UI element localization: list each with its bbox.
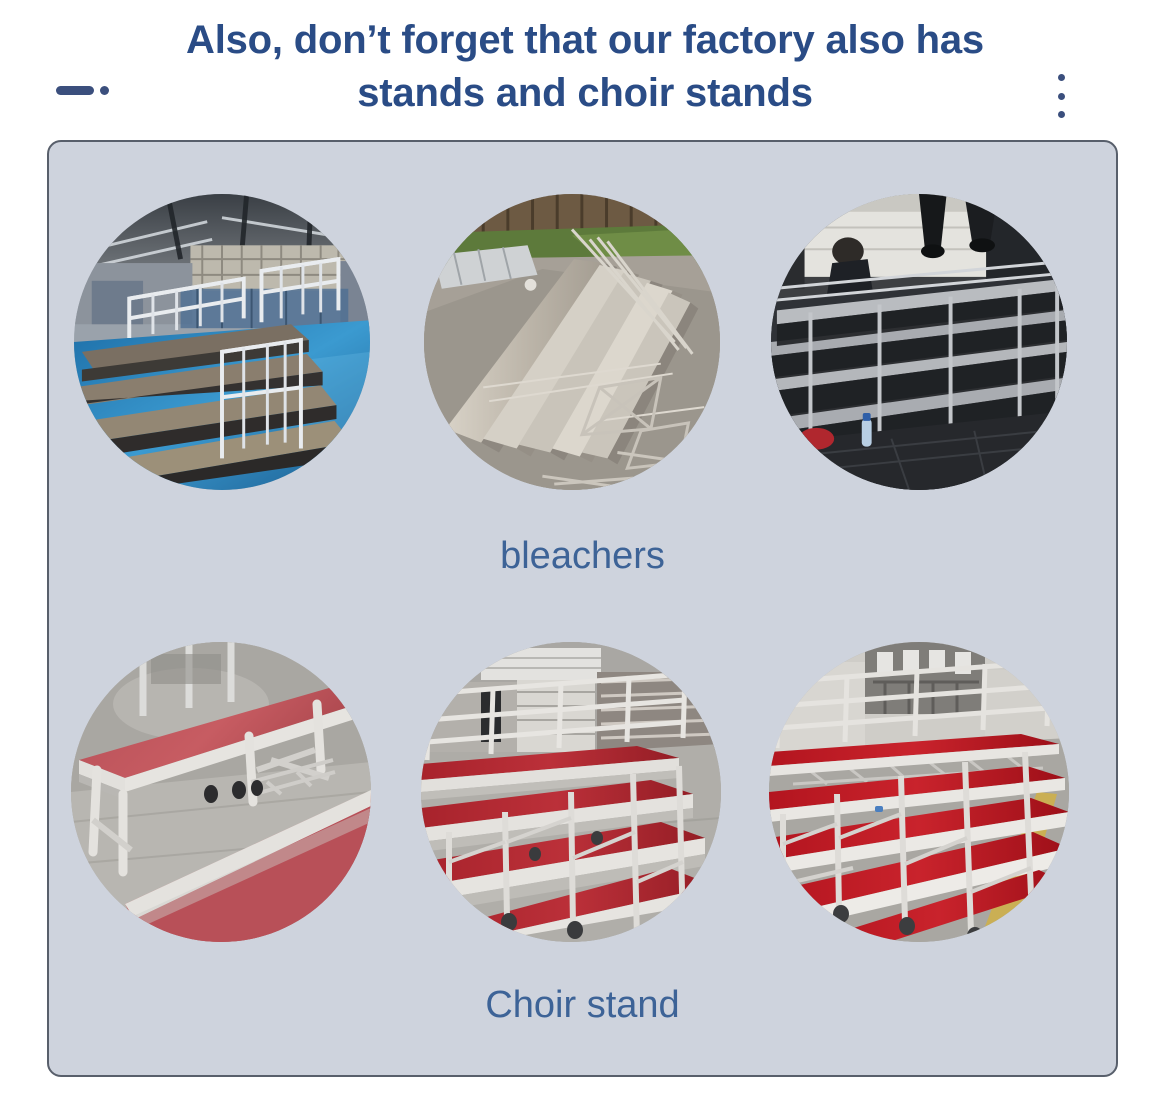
kebab-dot-2 bbox=[1058, 93, 1065, 100]
kebab-dot-1 bbox=[1058, 74, 1065, 81]
bleachers-caption: bleachers bbox=[49, 535, 1116, 578]
product-showcase-panel: bleachers bbox=[47, 140, 1118, 1077]
choir-stand-four-tier-red-graphic bbox=[769, 642, 1069, 942]
choir-stand-three-tier-red-image[interactable] bbox=[421, 642, 721, 942]
bleachers-image-row bbox=[49, 194, 1116, 524]
page-header: Also, don’t forget that our factory also… bbox=[0, 0, 1170, 138]
page-title: Also, don’t forget that our factory also… bbox=[120, 14, 1050, 120]
bleachers-outdoor-stacked-panels-image[interactable] bbox=[424, 194, 720, 490]
kebab-menu-icon[interactable] bbox=[1056, 74, 1066, 118]
choir-stand-two-tier-red-graphic bbox=[71, 642, 371, 942]
choir-stand-caption: Choir stand bbox=[49, 984, 1116, 1027]
kebab-dot-3 bbox=[1058, 111, 1065, 118]
bleachers-factory-assembly-graphic bbox=[771, 194, 1067, 490]
choir-stand-image-row bbox=[49, 642, 1116, 972]
minus-dash-icon[interactable] bbox=[56, 82, 112, 98]
bleachers-outdoor-stacked-panels-graphic bbox=[424, 194, 720, 490]
bleachers-factory-assembly-image[interactable] bbox=[771, 194, 1067, 490]
minus-dash-bar bbox=[56, 86, 94, 95]
choir-stand-four-tier-red-image[interactable] bbox=[769, 642, 1069, 942]
choir-stand-two-tier-red-image[interactable] bbox=[71, 642, 371, 942]
minus-dash-dot bbox=[100, 86, 109, 95]
choir-stand-three-tier-red-graphic bbox=[421, 642, 721, 942]
bleachers-warehouse-interior-image[interactable] bbox=[74, 194, 370, 490]
bleachers-warehouse-interior-graphic bbox=[74, 194, 370, 490]
